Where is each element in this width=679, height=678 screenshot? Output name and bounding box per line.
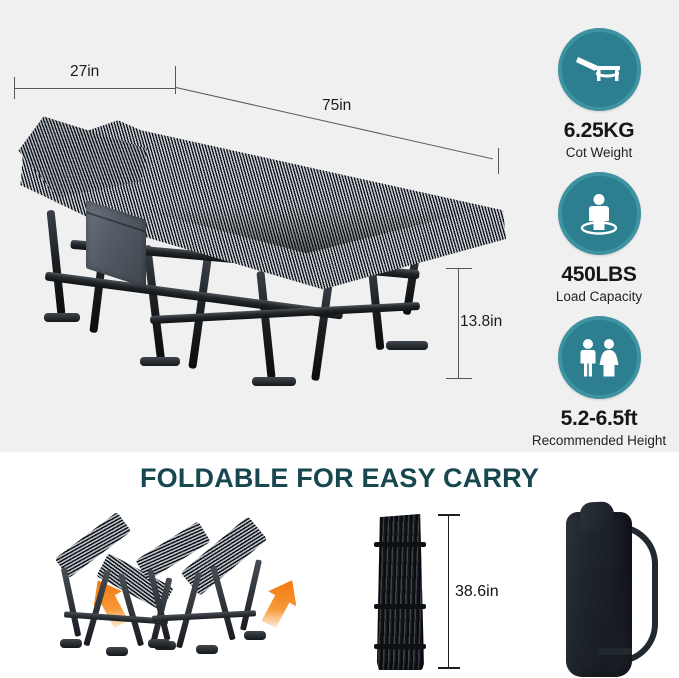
dim-label-height: 13.8in [460,313,502,331]
step-carry-bag [558,500,668,678]
dim-tick-width-right [175,66,176,94]
bundle-strap [374,604,426,609]
badge-circle [558,172,641,255]
spec-badge-list: 6.25KG Cot Weight 450LBS Load Capacity [519,14,679,444]
foldable-section: FOLDABLE FOR EASY CARRY [0,452,679,678]
badge-recommended-height: 5.2-6.5ft Recommended Height [519,316,679,450]
bundle-strap [374,644,426,649]
dim-tick-width-left [14,77,15,99]
badge-circle [558,316,641,399]
section-title: FOLDABLE FOR EASY CARRY [0,463,679,494]
folded-cot [140,513,270,649]
product-infographic: 27in 75in 13.8in [0,0,679,678]
badge-circle [558,28,641,111]
badge-label: Cot Weight [519,144,679,162]
badge-load-capacity: 450LBS Load Capacity [519,172,679,306]
dim-label-length: 75in [322,97,351,115]
dim-line-folded-height [448,514,449,669]
step-folded-cots [12,507,312,672]
specs-section: 27in 75in 13.8in [0,0,679,452]
badge-label: Load Capacity [519,288,679,306]
person-load-icon [576,192,622,236]
bundle-strap [374,542,426,547]
badge-label: Recommended Height [519,432,679,450]
bag-drawstring-top [579,501,614,531]
cot-leg [47,210,66,315]
dim-line-width [14,88,176,89]
badge-value: 450LBS [519,263,679,287]
cot-foot [252,377,296,386]
badge-value: 5.2-6.5ft [519,407,679,431]
dim-label-width: 27in [70,63,99,81]
bag-strap-anchor [598,648,632,655]
cot-foot [140,357,180,366]
dim-tick-height-bottom [446,378,472,379]
badge-cot-weight: 6.25KG Cot Weight [519,28,679,162]
dim-tick-folded-bottom [438,667,460,669]
cot-leg [256,271,275,379]
cot-foot [44,313,80,322]
cot-leg [311,281,333,381]
lounge-cot-icon [574,53,624,87]
cot-illustration [0,95,530,395]
dim-tick-length-right [498,148,499,174]
dim-label-folded-height: 38.6in [455,583,499,601]
cot-leg [143,245,165,360]
badge-value: 6.25KG [519,119,679,143]
cot-foot [386,341,428,350]
dim-line-height [458,268,459,378]
dim-tick-height-top [446,268,472,269]
dim-tick-folded-top [438,514,460,516]
step-bundled-cot [370,512,450,672]
two-people-icon [574,337,624,379]
